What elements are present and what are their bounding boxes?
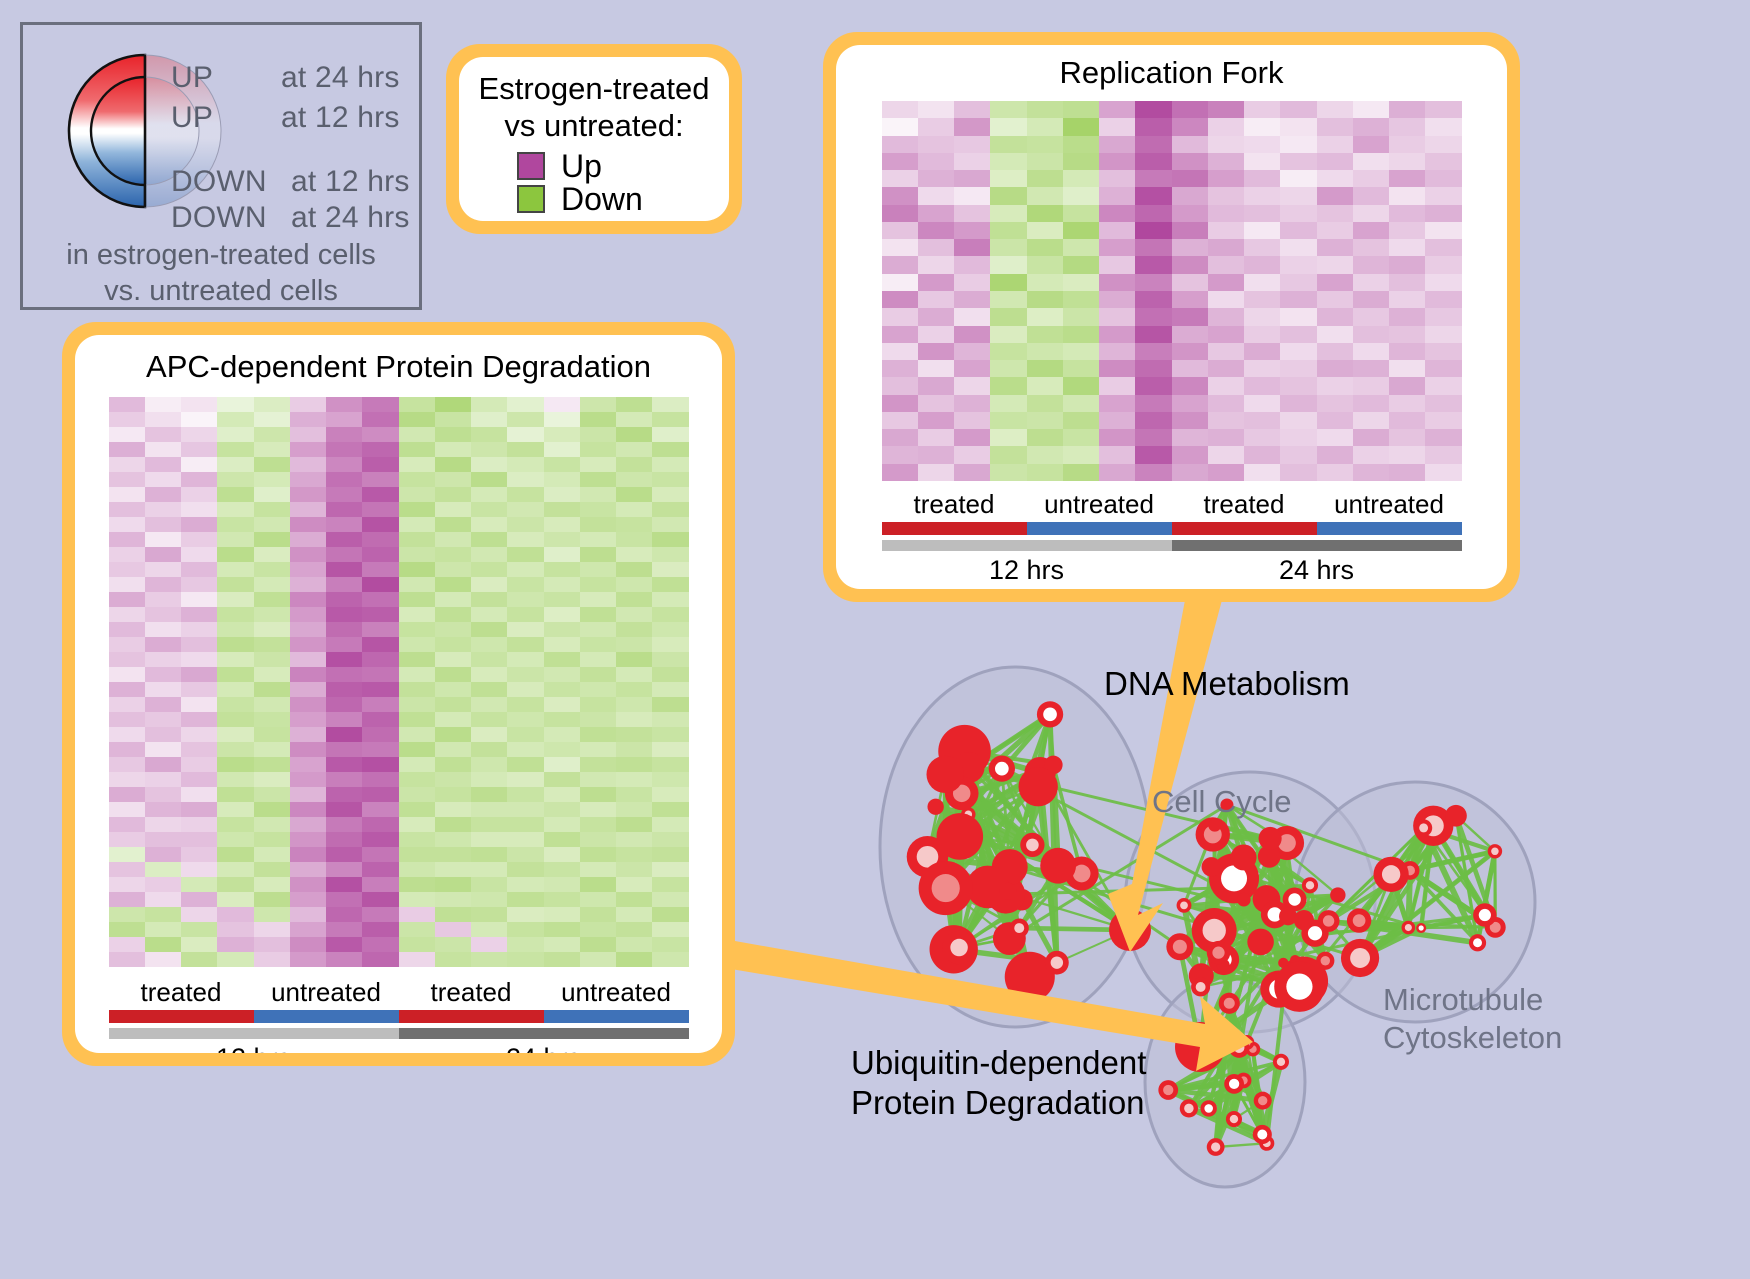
heatmap-cell — [181, 427, 217, 442]
heatmap-cell — [145, 787, 181, 802]
heatmap-cell — [254, 457, 290, 472]
heatmap-cell — [1280, 446, 1316, 463]
heatmap-cell — [652, 397, 688, 412]
network-node — [1231, 844, 1257, 870]
heatmap-cell — [616, 922, 652, 937]
heatmap-cell — [362, 502, 398, 517]
heatmap-cell — [616, 652, 652, 667]
network-node — [1279, 907, 1297, 925]
heatmap-cell — [507, 877, 543, 892]
heatmap-cell — [109, 517, 145, 532]
heatmap-cell — [399, 502, 435, 517]
heatmap-cell — [1099, 308, 1135, 325]
heatmap-cell — [109, 472, 145, 487]
heatmap-cell — [580, 577, 616, 592]
heatmap-cell — [217, 547, 253, 562]
heatmap-cell — [109, 427, 145, 442]
heatmap-cell — [652, 727, 688, 742]
heatmap-cell — [918, 101, 954, 118]
heatmap-cell — [616, 892, 652, 907]
heatmap-cell — [145, 952, 181, 967]
heatmap-cell — [1172, 464, 1208, 481]
heatmap-cell — [1135, 153, 1171, 170]
heatmap-cell — [435, 862, 471, 877]
heatmap-cell — [882, 412, 918, 429]
heatmap-cell — [990, 101, 1026, 118]
cluster-label-cell-cycle: Cell Cycle — [1152, 784, 1292, 820]
heatmap-cell — [1027, 187, 1063, 204]
heatmap-cell — [652, 532, 688, 547]
heatmap-cell — [399, 427, 435, 442]
heatmap-cell — [290, 907, 326, 922]
heatmap-cell — [1135, 429, 1171, 446]
heatmap-cell — [290, 637, 326, 652]
heatmap-cell — [1208, 446, 1244, 463]
heatmap-cell — [1063, 360, 1099, 377]
heatmap-cell — [507, 457, 543, 472]
heatmap-cell — [1027, 136, 1063, 153]
heatmap-cell — [435, 742, 471, 757]
heatmap-cell — [1317, 291, 1353, 308]
heatmap-cell — [399, 637, 435, 652]
network-node — [1207, 941, 1230, 964]
heatmap-cell — [326, 802, 362, 817]
heatmap-cell — [652, 862, 688, 877]
heatmap-cell — [326, 427, 362, 442]
heatmap-cell — [290, 517, 326, 532]
cluster-label-ubiquitin: Ubiquitin-dependentProtein Degradation — [851, 1043, 1146, 1122]
heatmap-cell — [1063, 291, 1099, 308]
heatmap-cell — [145, 907, 181, 922]
heatmap-cell — [1063, 429, 1099, 446]
heatmap-cell — [290, 652, 326, 667]
heatmap-cell — [1208, 412, 1244, 429]
heatmap-cell — [471, 952, 507, 967]
heatmap-cell — [1172, 222, 1208, 239]
heatmap-cell — [1244, 239, 1280, 256]
axis-label-untreated-12: untreated — [1027, 489, 1172, 520]
heatmap-cell — [1027, 464, 1063, 481]
heatmap-cell — [990, 256, 1026, 273]
network-node — [1416, 923, 1426, 933]
heatmap-cell — [616, 457, 652, 472]
heatmap-cell — [399, 547, 435, 562]
heatmap-cell — [326, 652, 362, 667]
heatmap-cell — [1353, 291, 1389, 308]
heatmap-cell — [326, 547, 362, 562]
legend-item-up: Up — [517, 150, 729, 182]
heatmap-cell — [217, 802, 253, 817]
axis-label-untreated-24: untreated — [1317, 489, 1462, 520]
heatmap-cell — [399, 487, 435, 502]
heatmap-cell — [1208, 136, 1244, 153]
heatmap-cell — [362, 622, 398, 637]
heatmap-cell — [109, 577, 145, 592]
heatmap-cell — [1063, 464, 1099, 481]
heatmap-cell — [580, 472, 616, 487]
network-node — [1207, 1138, 1225, 1156]
heatmap-cell — [1244, 101, 1280, 118]
axis-label-treated-12: treated — [882, 489, 1027, 520]
heatmap-cell — [918, 222, 954, 239]
heatmap-cell — [507, 862, 543, 877]
heatmap-cell — [1099, 274, 1135, 291]
heatmap-cell — [435, 712, 471, 727]
heatmap-cell — [362, 637, 398, 652]
heatmap-cell — [990, 429, 1026, 446]
heatmap-cell — [362, 742, 398, 757]
heatmap-cell — [1353, 412, 1389, 429]
heatmap-cell — [544, 397, 580, 412]
heatmap-cell — [652, 667, 688, 682]
network-node — [1045, 951, 1069, 975]
heatmap-cell — [1135, 308, 1171, 325]
heatmap-cell — [507, 547, 543, 562]
heatmap-cell — [544, 892, 580, 907]
network-node — [1019, 767, 1058, 806]
heatmap-cell — [1280, 239, 1316, 256]
heatmap-cell — [181, 877, 217, 892]
heatmap-cell — [1353, 256, 1389, 273]
heatmap-cell — [326, 412, 362, 427]
heatmap-cell — [217, 472, 253, 487]
heatmap-cell — [544, 532, 580, 547]
heatmap-cell — [616, 952, 652, 967]
heatmap-cell — [1208, 291, 1244, 308]
heatmap-cell — [181, 802, 217, 817]
heatmap-cell — [954, 464, 990, 481]
heatmap-cell — [507, 787, 543, 802]
heatmap-cell — [217, 502, 253, 517]
heatmap-cell — [254, 937, 290, 952]
heatmap-cell — [580, 487, 616, 502]
heatmap-cell — [181, 847, 217, 862]
heatmap-cell — [435, 877, 471, 892]
heatmap-cell — [507, 397, 543, 412]
heatmap-cell — [471, 667, 507, 682]
heatmap-cell — [290, 412, 326, 427]
heatmap-cell — [507, 472, 543, 487]
bar-untreated-12 — [254, 1010, 399, 1023]
heatmap-cell — [1425, 464, 1461, 481]
heatmap-cell — [918, 187, 954, 204]
heatmap-cell — [181, 937, 217, 952]
heatmap-cell — [990, 187, 1026, 204]
heatmap-cell — [435, 592, 471, 607]
axis-group-labels: treated untreated treated untreated — [882, 489, 1462, 520]
heatmap-cell — [399, 787, 435, 802]
heatmap-cell — [362, 937, 398, 952]
heatmap-cell — [290, 667, 326, 682]
heatmap-cell — [145, 802, 181, 817]
heatmap-cell — [652, 457, 688, 472]
heatmap-cell — [1280, 118, 1316, 135]
network-node — [1000, 883, 1017, 900]
heatmap-cell — [1317, 412, 1353, 429]
heatmap-cell — [1063, 343, 1099, 360]
heatmap-cell — [362, 577, 398, 592]
heatmap-cell — [954, 446, 990, 463]
heatmap-cell — [1280, 222, 1316, 239]
heatmap-cell — [181, 667, 217, 682]
heatmap-cell — [254, 637, 290, 652]
heatmap-cell — [507, 442, 543, 457]
heatmap-cell — [990, 239, 1026, 256]
heatmap-cell — [1244, 153, 1280, 170]
heatmap-cell — [290, 562, 326, 577]
heatmap-cell — [918, 464, 954, 481]
heatmap-cell — [109, 847, 145, 862]
heatmap-cell — [1389, 256, 1425, 273]
heatmap-cell — [652, 787, 688, 802]
heatmap-cell — [1425, 395, 1461, 412]
heatmap-cell — [290, 757, 326, 772]
heatmap-cell — [145, 472, 181, 487]
cluster-label-microtubule: MicrotubuleCytoskeleton — [1383, 981, 1562, 1057]
heatmap-cell — [1172, 205, 1208, 222]
apc-title: APC-dependent Protein Degradation — [75, 349, 722, 385]
heatmap-cell — [1317, 170, 1353, 187]
heatmap-cell — [399, 772, 435, 787]
heatmap-cell — [990, 464, 1026, 481]
heatmap-cell — [652, 937, 688, 952]
heatmap-cell — [1389, 205, 1425, 222]
heatmap-cell — [882, 429, 918, 446]
heatmap-cell — [954, 412, 990, 429]
heatmap-cell — [507, 487, 543, 502]
heatmap-cell — [254, 487, 290, 502]
network-node — [1224, 1074, 1244, 1094]
heatmap-cell — [954, 153, 990, 170]
heatmap-cell — [435, 937, 471, 952]
heatmap-cell — [254, 892, 290, 907]
heatmap-cell — [1244, 395, 1280, 412]
heatmap-cell — [217, 952, 253, 967]
legend-footer-text: in estrogen-treated cellsvs. untreated c… — [23, 237, 419, 310]
heatmap-cell — [1099, 101, 1135, 118]
heatmap-cell — [1063, 170, 1099, 187]
heatmap-cell — [1135, 274, 1171, 291]
heatmap-cell — [652, 592, 688, 607]
heatmap-cell — [544, 922, 580, 937]
axis-treatment-bars — [109, 1010, 689, 1023]
heatmap-cell — [1317, 326, 1353, 343]
heatmap-cell — [918, 170, 954, 187]
heatmap-cell — [1208, 360, 1244, 377]
heatmap-cell — [217, 427, 253, 442]
heatmap-cell — [290, 817, 326, 832]
heatmap-cell — [254, 787, 290, 802]
heatmap-cell — [471, 907, 507, 922]
heatmap-cell — [1317, 153, 1353, 170]
heatmap-cell — [362, 877, 398, 892]
heatmap-cell — [1425, 412, 1461, 429]
heatmap-cell — [1425, 360, 1461, 377]
heatmap-cell — [399, 412, 435, 427]
heatmap-cell — [918, 274, 954, 291]
heatmap-cell — [254, 427, 290, 442]
time-label-12: 12 hrs — [882, 555, 1172, 586]
heatmap-cell — [918, 360, 954, 377]
heatmap-cell — [616, 502, 652, 517]
heatmap-cell — [326, 862, 362, 877]
heatmap-cell — [544, 622, 580, 637]
heatmap-cell — [1208, 205, 1244, 222]
heatmap-cell — [1317, 136, 1353, 153]
heatmap-cell — [1172, 308, 1208, 325]
heatmap-cell — [254, 952, 290, 967]
heatmap-cell — [109, 952, 145, 967]
heatmap-cell — [217, 682, 253, 697]
heatmap-cell — [1027, 170, 1063, 187]
heatmap-cell — [918, 118, 954, 135]
heatmap-cell — [217, 577, 253, 592]
heatmap-cell — [471, 592, 507, 607]
heatmap-cell — [109, 832, 145, 847]
legend-at-12-label: at 12 hrs — [281, 101, 400, 135]
heatmap-cell — [580, 562, 616, 577]
heatmap-cell — [652, 922, 688, 937]
heatmap-cell — [507, 517, 543, 532]
heatmap-cell — [362, 802, 398, 817]
heatmap-cell — [580, 922, 616, 937]
heatmap-cell — [109, 622, 145, 637]
heatmap-cell — [217, 907, 253, 922]
heatmap-cell — [326, 757, 362, 772]
heatmap-cell — [1353, 343, 1389, 360]
heatmap-cell — [254, 802, 290, 817]
heatmap-cell — [544, 412, 580, 427]
heatmap-cell — [918, 291, 954, 308]
heatmap-cell — [217, 412, 253, 427]
heatmap-cell — [109, 397, 145, 412]
heatmap-cell — [399, 832, 435, 847]
heatmap-cell — [652, 577, 688, 592]
heatmap-cell — [181, 412, 217, 427]
heatmap-cell — [507, 622, 543, 637]
heatmap-cell — [1063, 274, 1099, 291]
heatmap-cell — [1027, 274, 1063, 291]
heatmap-cell — [145, 517, 181, 532]
heatmap-cell — [580, 727, 616, 742]
heatmap-cell — [145, 742, 181, 757]
network-node — [1318, 910, 1340, 932]
heatmap-cell — [1389, 274, 1425, 291]
heatmap-cell — [990, 343, 1026, 360]
network-node — [1330, 887, 1345, 902]
heatmap-cell — [652, 472, 688, 487]
heatmap-cell — [616, 907, 652, 922]
heatmap-cell — [1389, 464, 1425, 481]
heatmap-cell — [1208, 101, 1244, 118]
heatmap-cell — [918, 205, 954, 222]
heatmap-cell — [145, 547, 181, 562]
network-node — [1302, 877, 1318, 893]
heatmap-cell — [362, 682, 398, 697]
heatmap-cell — [362, 487, 398, 502]
heatmap-cell — [181, 817, 217, 832]
heatmap-cell — [435, 772, 471, 787]
heatmap-cell — [1135, 239, 1171, 256]
heatmap-cell — [918, 239, 954, 256]
heatmap-cell — [1425, 187, 1461, 204]
heatmap-cell — [507, 562, 543, 577]
heatmap-cell — [616, 547, 652, 562]
heatmap-cell — [326, 457, 362, 472]
heatmap-cell — [326, 952, 362, 967]
heatmap-cell — [918, 377, 954, 394]
heatmap-cell — [145, 682, 181, 697]
heatmap-cell — [616, 487, 652, 502]
up-swatch-icon — [517, 152, 545, 180]
heatmap-cell — [1425, 377, 1461, 394]
heatmap-cell — [326, 667, 362, 682]
heatmap-cell — [290, 772, 326, 787]
heatmap-cell — [544, 577, 580, 592]
heatmap-cell — [109, 712, 145, 727]
heatmap-cell — [290, 547, 326, 562]
heatmap-cell — [544, 652, 580, 667]
heatmap-cell — [507, 742, 543, 757]
heatmap-cell — [1208, 153, 1244, 170]
heatmap-cell — [882, 187, 918, 204]
heatmap-cell — [616, 877, 652, 892]
heatmap-cell — [326, 742, 362, 757]
heatmap-cell — [507, 667, 543, 682]
heatmap-cell — [1425, 274, 1461, 291]
heatmap-cell — [507, 502, 543, 517]
heatmap-cell — [1425, 308, 1461, 325]
heatmap-cell — [1389, 429, 1425, 446]
heatmap-cell — [181, 922, 217, 937]
heatmap-cell — [507, 592, 543, 607]
heatmap-cell — [616, 412, 652, 427]
heatmap-cell — [544, 742, 580, 757]
heatmap-cell — [145, 412, 181, 427]
heatmap-cell — [954, 239, 990, 256]
legend-up-24-label: UP — [171, 61, 213, 95]
heatmap-cell — [1280, 274, 1316, 291]
heatmap-cell — [254, 847, 290, 862]
heatmap-cell — [954, 274, 990, 291]
heatmap-cell — [580, 607, 616, 622]
heatmap-cell — [471, 922, 507, 937]
heatmap-cell — [145, 667, 181, 682]
heatmap-cell — [580, 787, 616, 802]
heatmap-cell — [399, 757, 435, 772]
heatmap-cell — [1425, 222, 1461, 239]
heatmap-cell — [1280, 256, 1316, 273]
heatmap-cell — [362, 442, 398, 457]
heatmap-cell — [109, 697, 145, 712]
heatmap-cell — [1317, 343, 1353, 360]
heatmap-cell — [990, 291, 1026, 308]
heatmap-cell — [1208, 429, 1244, 446]
heatmap-cell — [1280, 308, 1316, 325]
heatmap-cell — [882, 222, 918, 239]
heatmap-cell — [1389, 136, 1425, 153]
heatmap-cell — [507, 772, 543, 787]
heatmap-cell — [217, 607, 253, 622]
heatmap-cell — [290, 682, 326, 697]
heatmap-cell — [145, 592, 181, 607]
heatmap-cell — [1425, 170, 1461, 187]
heatmap-cell — [290, 442, 326, 457]
heatmap-cell — [217, 517, 253, 532]
heatmap-cell — [1244, 377, 1280, 394]
heatmap-cell — [362, 922, 398, 937]
heatmap-cell — [435, 427, 471, 442]
